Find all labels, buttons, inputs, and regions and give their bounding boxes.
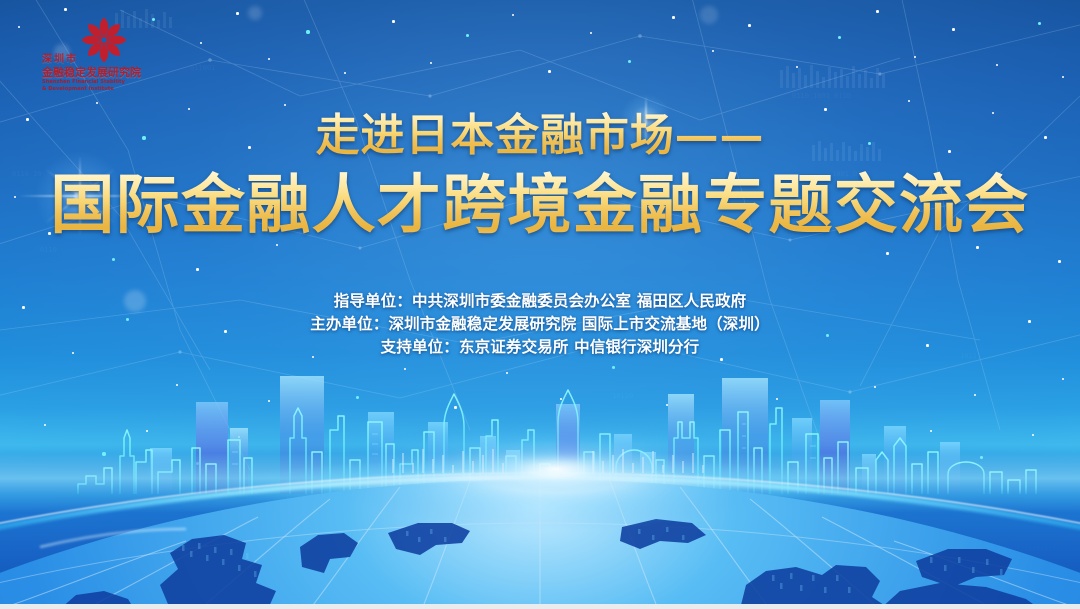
bottom-edge-strip — [0, 604, 1080, 609]
institute-logo[interactable]: 深圳市 金融稳定发展研究院 Shenzhen Financial Stabili… — [36, 14, 148, 98]
sky-gradient-background — [0, 0, 1080, 609]
logo-line-4: & Development Institute — [42, 86, 148, 93]
logo-line-2: 金融稳定发展研究院 — [42, 66, 148, 79]
flare-small-ray — [645, 96, 647, 144]
event-poster: 0110 1001 0110 1001 0110 0110 10 0110 01… — [0, 0, 1080, 609]
logo-line-1: 深圳市 — [42, 54, 148, 66]
